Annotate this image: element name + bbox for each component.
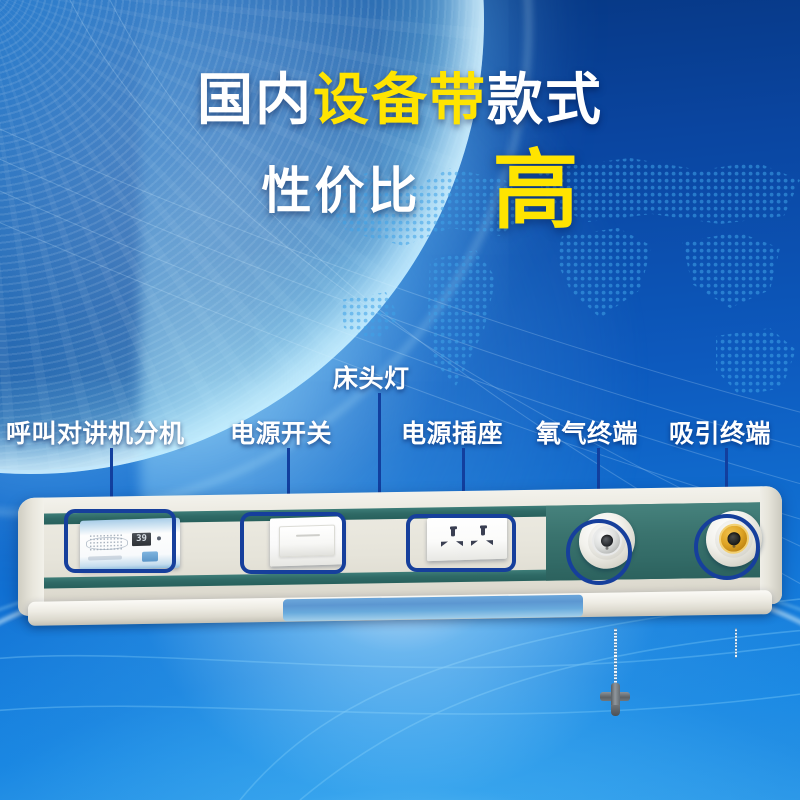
rocker-switch-icon[interactable] [279,525,335,558]
panel-end-cap-right [760,486,782,604]
bed-head-unit-panel: 39 [18,492,782,632]
universal-socket-icon[interactable] [468,526,498,551]
pull-cord-handle-tip [611,705,620,716]
callout-label-power-socket: 电源插座 [401,414,503,450]
terminal-port-hole [728,532,741,545]
pull-cord-handle-icon[interactable] [600,683,630,713]
callout-label-nurse-call-intercom: 呼叫对讲机分机 [6,414,185,450]
socket-pin-right [486,540,493,545]
socket-pin-top [481,526,485,535]
panel-rail-protective-film [283,595,583,622]
intercom-call-button[interactable] [142,551,158,562]
callout-group: 呼叫对讲机分机 电源开关 床头灯 电源插座 氧气终端 吸引终端 [0,0,800,800]
panel-end-cap-left [18,498,44,616]
universal-socket-icon[interactable] [438,527,468,552]
callout-label-power-switch: 电源开关 [230,414,332,450]
oxygen-terminal-unit[interactable] [579,512,635,570]
callout-label-oxygen-terminal: 氧气终端 [536,414,638,450]
intercom-display: 39 [132,533,151,547]
promo-banner: 国内设备带款式 性价比 高 呼叫对讲机分机 电源开关 床头灯 电源插座 氧气终端… [0,0,800,800]
nurse-call-intercom-unit[interactable]: 39 [80,518,180,571]
terminal-port-hole [601,535,613,547]
pull-cord-secondary-string [735,628,737,658]
suction-terminal-unit[interactable] [706,510,762,568]
socket-pin-left [441,542,448,547]
power-socket-unit[interactable] [427,516,507,562]
intercom-mic-slot [88,555,122,560]
speaker-grille-icon [89,533,123,551]
callout-label-bed-head-lamp: 床头灯 [333,359,410,395]
callout-label-suction-terminal: 吸引终端 [669,414,771,450]
terminal-tick-mark [733,545,736,548]
terminal-tick-mark [606,547,609,550]
socket-pin-top [451,527,455,536]
indicator-dot-icon [157,536,161,540]
power-switch-unit[interactable] [270,516,344,566]
socket-pin-right [456,541,463,546]
socket-pin-left [471,541,478,546]
pull-cord-string[interactable] [614,628,617,688]
